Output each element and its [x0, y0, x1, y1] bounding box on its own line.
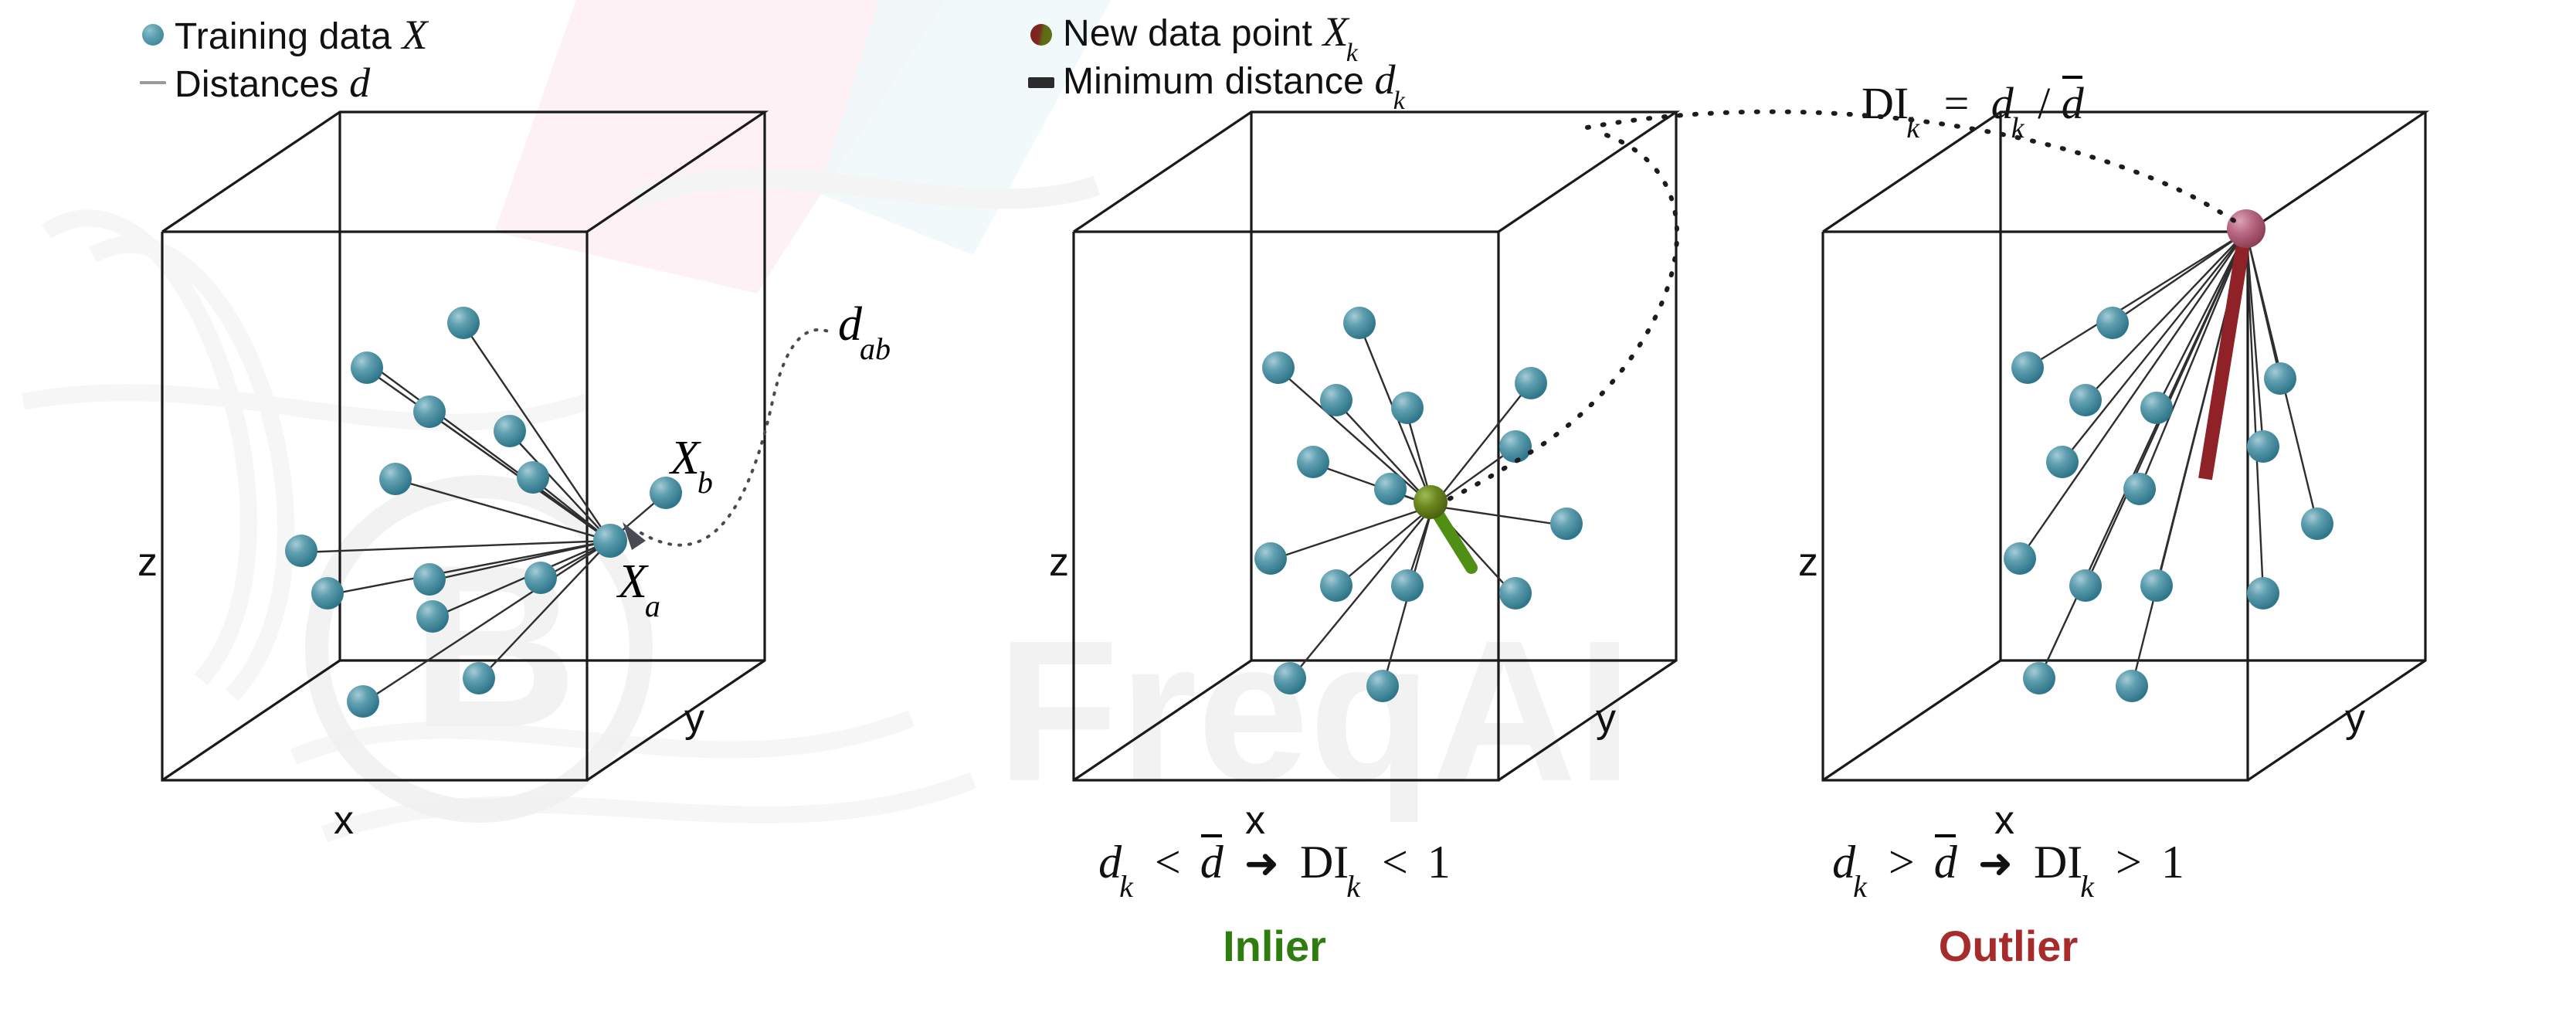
inlier-op2: < [1374, 837, 1416, 888]
inlier-verdict-label: Inlier [989, 921, 1560, 971]
outlier-a: d [1832, 837, 1855, 888]
outlier-c: DI [2034, 837, 2082, 888]
training-points-3 [2004, 307, 2333, 702]
arrow-icon-outlier: ➜ [1969, 839, 2022, 888]
arrow-icon-inlier: ➜ [1235, 839, 1288, 888]
outlier-verdict-label: Outlier [1722, 921, 2294, 971]
outlier-condition-formula: dk > d ➜ DIk > 1 [1722, 836, 2294, 895]
axis-label-z-3: z [1798, 539, 1818, 586]
inlier-op1: < [1147, 837, 1189, 888]
axis-label-y-3: y [2345, 695, 2365, 742]
outlier-value: 1 [2161, 837, 2184, 888]
inlier-value: 1 [1427, 837, 1451, 888]
inlier-a-sub: k [1119, 869, 1133, 904]
inlier-a: d [1098, 837, 1122, 888]
outlier-c-sub: k [2080, 869, 2094, 904]
inlier-b: d [1200, 836, 1224, 889]
inlier-c: DI [1300, 837, 1349, 888]
outlier-b: d [1934, 836, 1957, 889]
outlier-op1: > [1881, 837, 1923, 888]
inlier-c-sub: k [1346, 869, 1360, 904]
outlier-op2: > [2108, 837, 2150, 888]
outlier-a-sub: k [1853, 869, 1867, 904]
inlier-condition-formula: dk < d ➜ DIk < 1 [989, 836, 1560, 895]
new-data-point-outlier [2227, 209, 2265, 248]
